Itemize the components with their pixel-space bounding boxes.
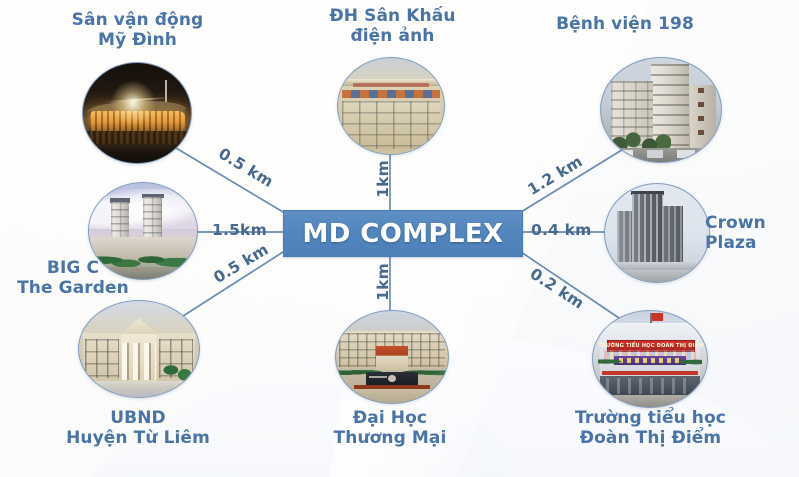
caption-big-c-the-garden: BIG C The Garden [8,258,138,298]
caption-ubnd-huyen-tu-liem: UBND Huyện Từ Liêm [48,408,228,448]
distance-crown-plaza: 0.4 km [528,221,595,239]
center-project-box[interactable]: MD COMPLEX [283,210,523,257]
photo-truong-tieu-hoc-doan-thi-diem[interactable]: TRƯỜNG TIỂU HỌC ĐOÀN THỊ ĐIỂM [592,310,708,408]
photo-dh-san-khau-dien-anh[interactable] [337,57,445,155]
caption-crown-plaza: Crown Plaza [705,213,795,253]
photo-my-dinh-stadium[interactable] [82,62,192,164]
photo-ubnd-huyen-tu-liem[interactable] [78,300,200,398]
distance-big-c: 1.5km [209,221,270,239]
school-banner-text: TRƯỜNG TIỂU HỌC ĐOÀN THỊ ĐIỂM [598,343,704,349]
location-infographic: Sân vận động Mỹ Đình 0.5 km ĐH Sân Khấu … [0,0,799,477]
distance-san-khau: 1km [371,160,395,198]
caption-dai-hoc-thuong-mai: Đại Học Thương Mại [300,408,480,448]
photo-crown-plaza[interactable] [604,183,710,283]
caption-truong-tieu-hoc-doan-thi-diem: Trường tiểu học Đoàn Thị Điểm [558,408,743,448]
photo-benh-vien-198[interactable] [600,57,722,163]
caption-benh-vien-198: Bệnh viện 198 [530,14,720,34]
center-project-label: MD COMPLEX [303,219,504,249]
caption-dh-san-khau-dien-anh: ĐH Sân Khấu điện ảnh [300,6,485,46]
distance-thuong-mai: 1km [371,263,395,301]
caption-san-van-dong-my-dinh: Sân vận động Mỹ Đình [45,10,230,50]
photo-dai-hoc-thuong-mai[interactable] [335,310,449,404]
